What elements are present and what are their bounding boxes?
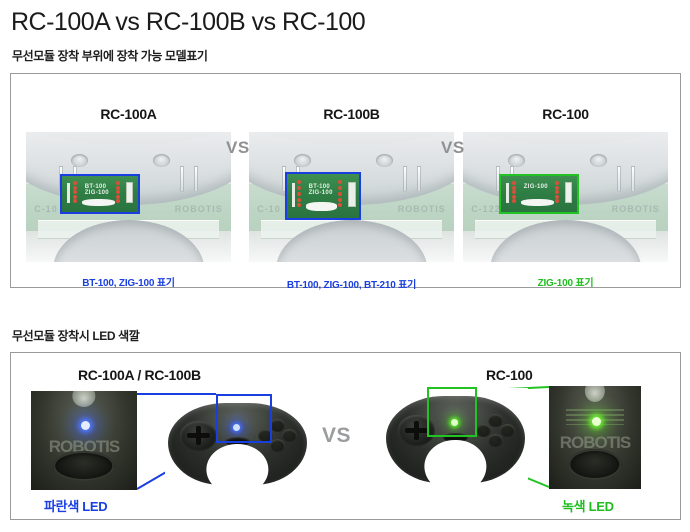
vs-separator: VS	[322, 424, 351, 448]
dpad	[180, 421, 216, 451]
led-closeup-green: ROBOTIS	[549, 386, 641, 489]
module-column-rc100a: RC-100A C-10 ROBOTIS BT-100ZIG-100	[26, 74, 231, 287]
module-comparison-panel: RC-100A C-10 ROBOTIS BT-100ZIG-100	[10, 73, 681, 288]
device-ghost-label: ROBOTIS	[175, 204, 223, 214]
led-column-title-green: RC-100	[486, 367, 532, 383]
device-arc-inner	[463, 132, 668, 145]
section-heading-modules: 무선모듈 장착 부위에 장착 가능 모델표기	[12, 47, 208, 64]
led-highlight-box-blue	[216, 394, 272, 443]
gamepad-notch	[425, 440, 486, 492]
vs-separator: VS	[441, 138, 465, 158]
led-closeup-blue: ROBOTIS	[31, 391, 137, 490]
module-highlight-box	[285, 172, 361, 220]
device-post	[194, 166, 198, 192]
device-post	[631, 166, 635, 192]
page-title: RC-100A vs RC-100B vs RC-100	[11, 8, 365, 37]
led-highlight-box-green	[427, 387, 477, 437]
device-photo-rc100b: C-10 ROBOTIS BT-100ZIG-100	[249, 132, 454, 262]
vs-separator: VS	[226, 138, 250, 158]
device-post	[617, 166, 621, 192]
device-ghost-label: C-10	[257, 204, 281, 214]
device-ghost-label: C-122	[471, 204, 501, 214]
led-column-title-blue: RC-100A / RC-100B	[78, 367, 201, 383]
led-indicator-blue	[81, 421, 90, 430]
device-post	[417, 166, 421, 192]
module-title: RC-100A	[26, 106, 231, 122]
speaker-grille	[53, 451, 114, 481]
module-caption: ZIG-100 표기	[463, 274, 668, 289]
device-ghost-label: C-10	[34, 204, 58, 214]
module-highlight-box	[499, 174, 579, 214]
device-post	[403, 166, 407, 192]
device-photo-rc100: C-122 ROBOTIS ZIG-100	[463, 132, 668, 262]
module-caption: BT-100, ZIG-100, BT-210 표기	[249, 276, 454, 291]
module-column-rc100b: RC-100B C-10 ROBOTIS BT-100ZIG-100	[249, 74, 454, 287]
module-title: RC-100	[463, 106, 668, 122]
section-heading-led: 무선모듈 장착시 LED 색깔	[12, 327, 139, 344]
led-caption-blue: 파란색 LED	[44, 496, 107, 515]
device-arc-inner	[26, 132, 231, 145]
gamepad-notch	[207, 444, 268, 493]
device-ghost-label: ROBOTIS	[398, 204, 446, 214]
device-photo-rc100a: C-10 ROBOTIS BT-100ZIG-100	[26, 132, 231, 262]
module-column-rc100: RC-100 C-122 ROBOTIS ZIG-100	[463, 74, 668, 287]
device-ghost-label: ROBOTIS	[612, 204, 660, 214]
module-title: RC-100B	[249, 106, 454, 122]
led-caption-green: 녹색 LED	[562, 496, 614, 515]
module-highlight-box	[60, 174, 140, 214]
speaker-grille	[568, 449, 621, 480]
module-caption: BT-100, ZIG-100 표기	[26, 274, 231, 289]
device-post	[180, 166, 184, 192]
action-buttons	[476, 414, 515, 449]
device-arc-inner	[249, 132, 454, 145]
